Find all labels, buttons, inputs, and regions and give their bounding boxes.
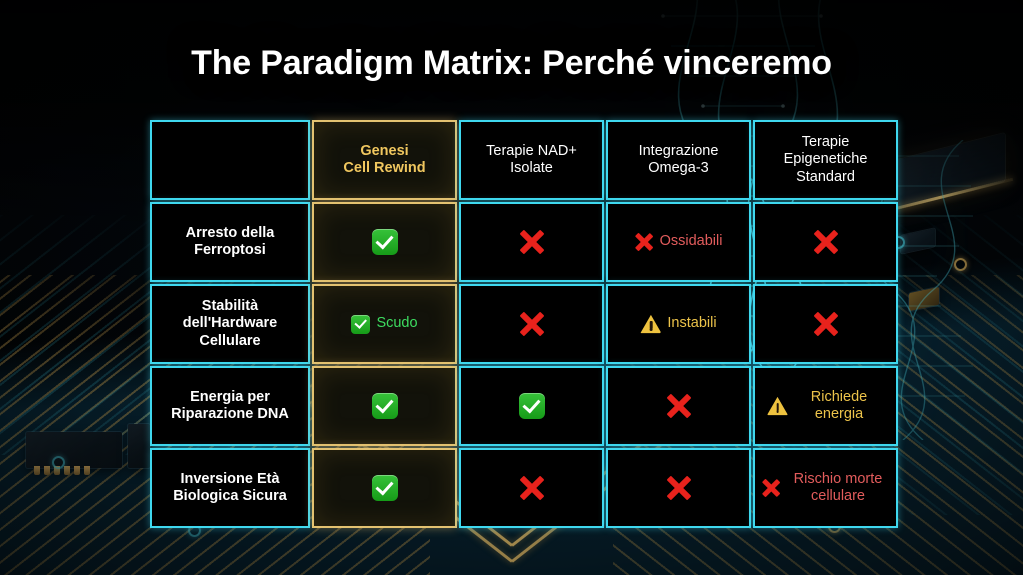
- cell-r2-genesi: [312, 366, 457, 446]
- column-header-line-1: Terapie: [761, 134, 890, 151]
- check-icon: [372, 229, 398, 255]
- column-header-line-2: Isolate: [467, 160, 596, 177]
- column-header-genesi-cell-rewind: Genesi Cell Rewind: [312, 120, 457, 200]
- circuit-chip-left-small: [128, 424, 150, 468]
- row-header-line-2: dell'Hardware: [158, 315, 302, 332]
- cell-label: Richiede energia: [794, 389, 884, 423]
- table-row: Arresto della Ferroptosi Ossid: [150, 202, 898, 282]
- check-icon: [372, 393, 398, 419]
- cell-r1-omega3: Instabili: [606, 284, 751, 364]
- row-header-inversione-eta-biologica-sicura: Inversione Età Biologica Sicura: [150, 448, 310, 528]
- column-header-line-3: Standard: [761, 169, 890, 186]
- row-header-line-1: Energia per: [158, 389, 302, 406]
- table-row: Inversione Età Biologica Sicura: [150, 448, 898, 528]
- cross-icon: [812, 229, 839, 256]
- row-header-line-1: Arresto della: [158, 225, 302, 242]
- column-header-integrazione-omega-3: Integrazione Omega-3: [606, 120, 751, 200]
- table-row: Energia per Riparazione DNA: [150, 366, 898, 446]
- row-header-line-1: Stabilità: [158, 298, 302, 315]
- cell-r2-nad: [459, 366, 604, 446]
- table-row: Stabilità dell'Hardware Cellulare Scudo: [150, 284, 898, 364]
- check-icon: [519, 393, 545, 419]
- cell-r1-genesi: Scudo: [312, 284, 457, 364]
- column-header-line-1: Integrazione: [614, 143, 743, 160]
- cell-r3-epigenetiche: Rischio morte cellulare: [753, 448, 898, 528]
- cell-label: Ossidabili: [660, 233, 723, 250]
- cell-r3-omega3: [606, 448, 751, 528]
- cell-r3-nad: [459, 448, 604, 528]
- cell-label: Rischio morte cellulare: [786, 471, 890, 505]
- row-header-arresto-della-ferroptosi: Arresto della Ferroptosi: [150, 202, 310, 282]
- row-header-energia-riparazione-dna: Energia per Riparazione DNA: [150, 366, 310, 446]
- cell-r1-epigenetiche: [753, 284, 898, 364]
- cell-r0-nad: [459, 202, 604, 282]
- column-header-line-1: Genesi: [320, 143, 449, 160]
- cell-label: Instabili: [667, 315, 716, 332]
- cell-r0-epigenetiche: [753, 202, 898, 282]
- row-header-stabilita-hardware-cellulare: Stabilità dell'Hardware Cellulare: [150, 284, 310, 364]
- column-header-line-1: Terapie NAD+: [467, 143, 596, 160]
- cell-r1-nad: [459, 284, 604, 364]
- circuit-pad-3: [52, 456, 65, 469]
- column-header-terapie-nad-isolate: Terapie NAD+ Isolate: [459, 120, 604, 200]
- column-header-terapie-epigenetiche-standard: Terapie Epigenetiche Standard: [753, 120, 898, 200]
- row-header-line-3: Cellulare: [158, 333, 302, 350]
- cell-r0-genesi: [312, 202, 457, 282]
- cross-icon: [635, 233, 654, 252]
- cross-icon: [812, 311, 839, 338]
- circuit-chip-left: [26, 432, 122, 468]
- cross-icon: [761, 479, 780, 498]
- check-icon: [372, 475, 398, 501]
- cross-icon: [518, 229, 545, 256]
- matrix-corner-cell: [150, 120, 310, 200]
- column-header-line-2: Cell Rewind: [320, 160, 449, 177]
- cross-icon: [518, 475, 545, 502]
- column-header-line-2: Epigenetiche: [761, 151, 890, 168]
- row-header-line-2: Biologica Sicura: [158, 488, 302, 505]
- cross-icon: [518, 311, 545, 338]
- check-icon: [351, 315, 370, 334]
- page-title: The Paradigm Matrix: Perché vinceremo: [0, 44, 1023, 83]
- cell-label: Scudo: [376, 315, 417, 332]
- matrix-header: Genesi Cell Rewind Terapie NAD+ Isolate …: [150, 120, 898, 200]
- cross-icon: [665, 393, 692, 420]
- matrix-body: Arresto della Ferroptosi Ossid: [150, 202, 898, 528]
- cell-r3-genesi: [312, 448, 457, 528]
- matrix-header-row: Genesi Cell Rewind Terapie NAD+ Isolate …: [150, 120, 898, 200]
- row-header-line-2: Ferroptosi: [158, 242, 302, 259]
- warning-icon: [767, 397, 788, 416]
- warning-icon: [640, 315, 661, 334]
- column-header-line-2: Omega-3: [614, 160, 743, 177]
- row-header-line-1: Inversione Età: [158, 471, 302, 488]
- cross-icon: [665, 475, 692, 502]
- comparison-matrix-table: Genesi Cell Rewind Terapie NAD+ Isolate …: [148, 118, 900, 530]
- slide-canvas: The Paradigm Matrix: Perché vinceremo Ge…: [0, 0, 1023, 575]
- row-header-line-2: Riparazione DNA: [158, 406, 302, 423]
- cell-r2-epigenetiche: Richiede energia: [753, 366, 898, 446]
- cell-r2-omega3: [606, 366, 751, 446]
- cell-r0-omega3: Ossidabili: [606, 202, 751, 282]
